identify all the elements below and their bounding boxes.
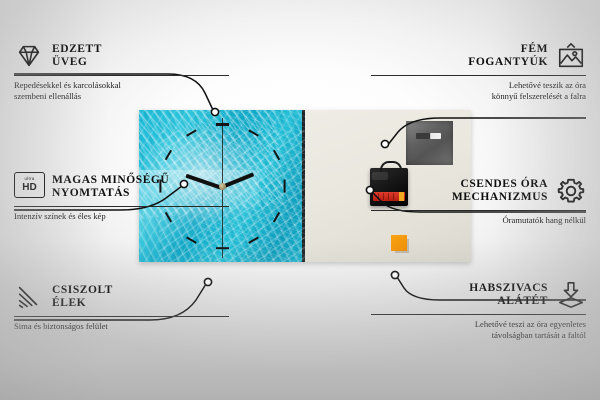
- feature-description: Intenzív színek és éles kép: [14, 211, 229, 222]
- feature-title: HABSZIVACS ALÁTÉT: [469, 282, 548, 309]
- feature-header: FÉM FOGANTYÚK: [371, 41, 586, 71]
- feature-description: Sima és biztonságos felület: [14, 321, 229, 332]
- feature-header: CSISZOLT ÉLEK: [14, 282, 229, 312]
- divider: [14, 316, 229, 317]
- feature-description: Lehetővé teszik az óra könnyű felszerelé…: [371, 80, 586, 102]
- divider: [14, 75, 229, 76]
- clock-tick: [248, 129, 259, 136]
- feature-title: MAGAS MINŐSÉGŰ NYOMTATÁS: [52, 174, 169, 201]
- clock-tick: [248, 236, 259, 243]
- clock-tick: [272, 212, 279, 223]
- clock-tick: [186, 129, 197, 136]
- feature-header: ultra HD MAGAS MINŐSÉGŰ NYOMTATÁS: [14, 172, 229, 202]
- clock-tick: [186, 236, 197, 243]
- feature-title: FÉM FOGANTYÚK: [468, 43, 548, 70]
- feature-title: CSISZOLT ÉLEK: [52, 284, 113, 311]
- clock-tick: [165, 150, 172, 161]
- feature-fem-fogantyuk[interactable]: FÉM FOGANTYÚK Lehetővé teszik az óra kön…: [371, 41, 586, 102]
- feature-habszivacs-alatet[interactable]: HABSZIVACS ALÁTÉT Lehetővé teszi az óra …: [371, 280, 586, 341]
- clock-tick: [272, 150, 279, 161]
- feature-header: EDZETT ÜVEG: [14, 41, 229, 71]
- feature-title: EDZETT ÜVEG: [52, 43, 102, 70]
- feature-description: Lehetővé teszi az óra egyenletes távolsá…: [371, 319, 586, 341]
- feature-description: Repedésekkel és karcolásokkal szembeni e…: [14, 80, 229, 102]
- feature-magas-minosegu-nyomtatas[interactable]: ultra HD MAGAS MINŐSÉGŰ NYOMTATÁS Intenz…: [14, 172, 229, 222]
- feature-title: CSENDES ÓRA MECHANIZMUS: [452, 178, 548, 205]
- clock-tick: [283, 180, 285, 193]
- hd-badge-bottom: HD: [22, 183, 36, 193]
- foam-pad-arrow-icon: [556, 280, 586, 310]
- gear-icon: [556, 176, 586, 206]
- feature-csiszolt-elek[interactable]: CSISZOLT ÉLEK Sima és biztonságos felüle…: [14, 282, 229, 332]
- hanger-slot: [416, 133, 441, 139]
- feature-header: HABSZIVACS ALÁTÉT: [371, 280, 586, 310]
- divider: [14, 206, 229, 207]
- ultra-hd-icon: ultra HD: [14, 172, 44, 202]
- diamond-icon: [14, 41, 44, 71]
- feature-edzett-uveg[interactable]: EDZETT ÜVEG Repedésekkel és karcolásokka…: [14, 41, 229, 102]
- picture-hanger-icon: [556, 41, 586, 71]
- metal-hanger-plate: [406, 121, 453, 165]
- beveled-edges-icon: [14, 282, 44, 312]
- foam-pad: [391, 235, 407, 251]
- feature-csendes-ora-mechanizmus[interactable]: CSENDES ÓRA MECHANIZMUS Óramutatók hang …: [371, 176, 586, 226]
- divider: [371, 210, 586, 211]
- infographic-stage: EDZETT ÜVEG Repedésekkel és karcolásokka…: [0, 0, 600, 400]
- mechanism-hook: [380, 161, 402, 172]
- feature-description: Óramutatók hang nélkül: [371, 215, 586, 226]
- clock-tick: [216, 123, 229, 125]
- divider: [371, 314, 586, 315]
- divider: [371, 75, 586, 76]
- feature-header: CSENDES ÓRA MECHANIZMUS: [371, 176, 586, 206]
- connector-dot-habszivacs: [391, 271, 398, 278]
